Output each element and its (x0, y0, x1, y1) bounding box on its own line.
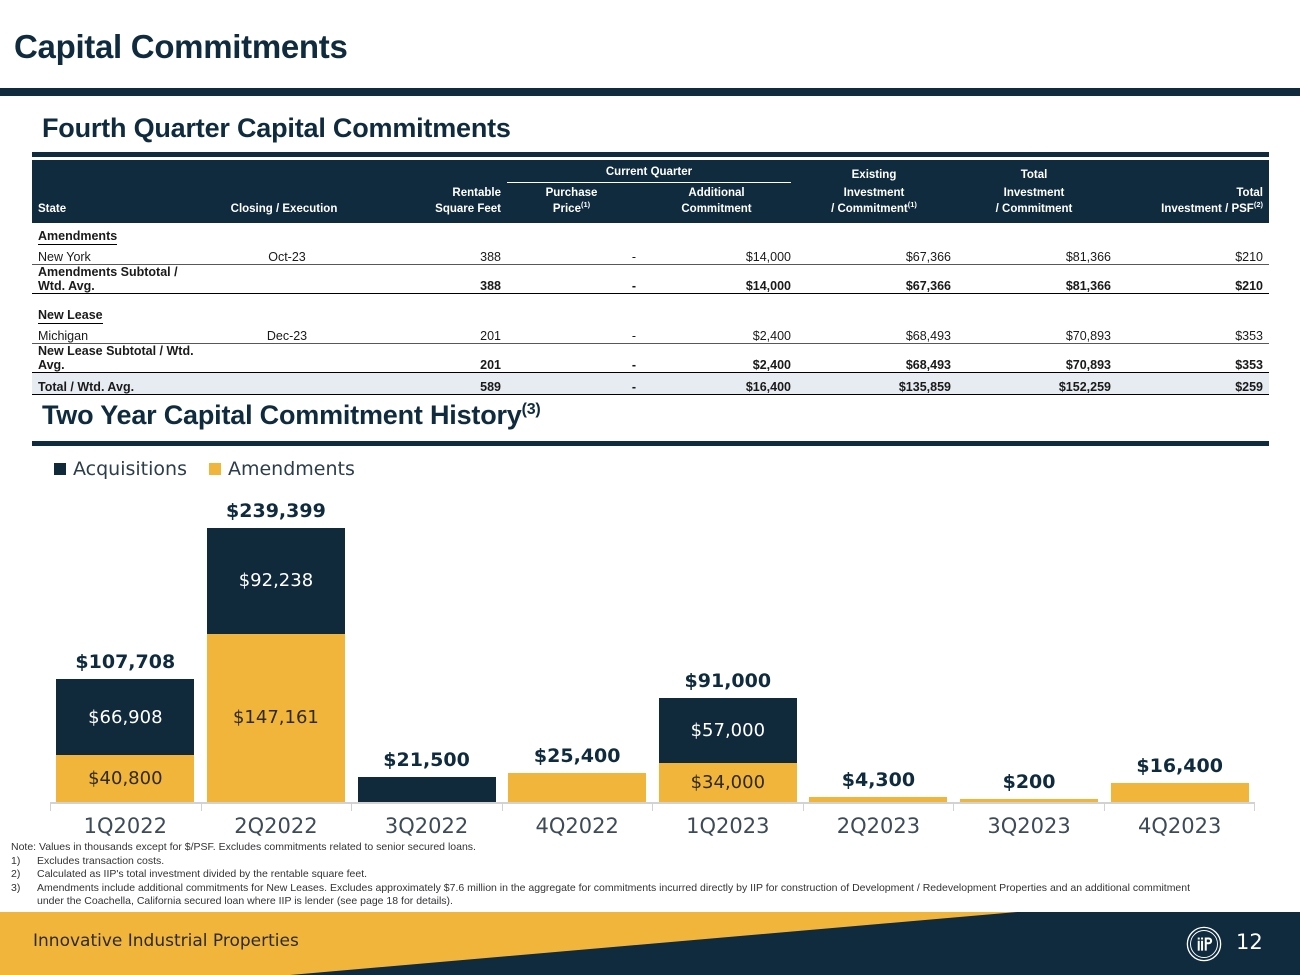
spacer-2 (202, 293, 372, 302)
spacer-8 (1117, 293, 1269, 302)
x-tick-4Q2022 (502, 802, 653, 811)
bar-slot-4Q2022: $25,400 (502, 490, 653, 802)
hdr-purchase-line1: Purchase (507, 184, 642, 202)
footnote-note: Note: Values in thousands except for $/P… (11, 841, 1296, 854)
hdr-closing-execution: Closing / Execution (202, 202, 372, 223)
hdr-rentable-line2: Square Feet (372, 202, 507, 223)
cell-grandtotal-label: Total / Wtd. Avg. (32, 372, 202, 394)
cell-state: New York (32, 243, 202, 264)
group2-pad-6 (957, 302, 1117, 322)
hdr-existing-line1: Investment (797, 184, 957, 202)
group-label-row: Amendments (32, 223, 1269, 243)
table-header-line2: Rentable Purchase Additional Investment … (32, 184, 1269, 202)
table-header-line3: State Closing / Execution Square Feet Pr… (32, 202, 1269, 223)
cell-subtotal-rentable-sf: 201 (372, 343, 507, 372)
spacer-1 (32, 293, 202, 302)
hdr-purchase-line2: Price(1) (507, 202, 642, 223)
capital-commitments-table: Current Quarter Existing Total Rentable … (32, 160, 1269, 395)
x-label-2Q2023: 2Q2023 (803, 814, 954, 838)
x-label-3Q2022: 3Q2022 (351, 814, 502, 838)
x-tick-3Q2022 (351, 802, 502, 811)
group2-pad-1 (202, 302, 372, 322)
spacer-4 (507, 293, 642, 302)
group-label-amendments: Amendments (32, 223, 202, 243)
group2-pad-7 (1117, 302, 1269, 322)
legend-label: Acquisitions (73, 458, 187, 480)
table-spacer-row (32, 293, 1269, 302)
group-label-amendments-text: Amendments (38, 229, 117, 245)
group-label-row: New Lease (32, 302, 1269, 322)
table-row: New York Oct-23 388 - $14,000 $67,366 $8… (32, 243, 1269, 264)
hdr-totalinv-line1: Investment (957, 184, 1117, 202)
cell-existing-investment: $68,493 (797, 322, 957, 343)
footnote-item-3: 3) Amendments include additional commitm… (11, 882, 1296, 895)
cell-purchase-price: - (507, 243, 642, 264)
x-label-1Q2023: 1Q2023 (653, 814, 804, 838)
hdr-blank-1 (32, 160, 202, 184)
bar-stack-3Q2022[interactable] (358, 777, 496, 802)
footnote-3-text: Amendments include additional commitment… (37, 882, 1296, 895)
group-pad-3 (507, 223, 642, 243)
bar-segment-acquisitions: $92,238 (207, 528, 345, 634)
cell-subtotal-closing (202, 343, 372, 372)
footnote-2-number: 2) (11, 868, 37, 881)
table-body: Amendments New York Oct-23 388 - $14,000… (32, 223, 1269, 394)
hdr-state: State (32, 202, 202, 223)
section-heading-two-year-text: Two Year Capital Commitment History (42, 400, 522, 430)
cell-rentable-sf: 201 (372, 322, 507, 343)
group-pad-5 (797, 223, 957, 243)
bar-segment-acquisitions (358, 777, 496, 802)
bar-total-label-1Q2022: $107,708 (75, 651, 175, 673)
x-tick-2Q2022 (201, 802, 352, 811)
hdr-group-current-quarter: Current Quarter (507, 160, 797, 184)
table-row: Michigan Dec-23 201 - $2,400 $68,493 $70… (32, 322, 1269, 343)
bar-segment-amendments (508, 773, 646, 802)
x-tick-4Q2023 (1104, 802, 1256, 811)
slide-footer: Innovative Industrial Properties (0, 912, 1300, 975)
bar-total-label-4Q2023: $16,400 (1136, 755, 1223, 777)
group-label-new-lease-text: New Lease (38, 308, 103, 324)
hdr-group-existing: Existing (797, 160, 957, 184)
cell-total-psf: $210 (1117, 243, 1269, 264)
hdr-additional-line1: Additional (642, 184, 797, 202)
legend-swatch-icon (54, 463, 66, 475)
page-number: 12 (1236, 930, 1263, 954)
x-label-3Q2023: 3Q2023 (954, 814, 1105, 838)
bar-slot-1Q2023: $57,000$34,000$91,000 (653, 490, 804, 802)
footnote-3-text-continued: under the Coachella, California secured … (11, 895, 1296, 908)
hdr-psf-line1: Total (1117, 184, 1269, 202)
spacer-5 (642, 293, 797, 302)
cell-subtotal-total-psf: $353 (1117, 343, 1269, 372)
bar-segment-amendments: $40,800 (56, 755, 194, 802)
section-divider-two-year (32, 441, 1269, 446)
section-heading-fourth-quarter: Fourth Quarter Capital Commitments (42, 113, 511, 144)
spacer-7 (957, 293, 1117, 302)
footnotes-block: Note: Values in thousands except for $/P… (11, 841, 1296, 908)
cell-subtotal-total-investment: $81,366 (957, 264, 1117, 293)
bar-stack-1Q2023[interactable]: $57,000$34,000 (659, 698, 797, 802)
cell-state: Michigan (32, 322, 202, 343)
spacer-6 (797, 293, 957, 302)
spacer-3 (372, 293, 507, 302)
hdr-blank-3 (372, 160, 507, 184)
bar-total-label-1Q2023: $91,000 (685, 670, 772, 692)
legend-item-acquisitions[interactable]: Acquisitions (54, 458, 187, 480)
bar-stack-1Q2022[interactable]: $66,908$40,800 (56, 679, 194, 802)
cell-subtotal-additional-commitment: $14,000 (642, 264, 797, 293)
group-pad-6 (957, 223, 1117, 243)
cell-subtotal-purchase-price: - (507, 343, 642, 372)
group-pad-4 (642, 223, 797, 243)
cell-subtotal-total-psf: $210 (1117, 264, 1269, 293)
bar-slot-1Q2022: $66,908$40,800$107,708 (50, 490, 201, 802)
bar-stack-4Q2023[interactable] (1111, 783, 1249, 802)
title-divider (0, 88, 1300, 96)
bar-segment-amendments (1111, 783, 1249, 802)
group2-pad-4 (642, 302, 797, 322)
cell-grandtotal-total-psf: $259 (1117, 372, 1269, 394)
group-pad-1 (202, 223, 372, 243)
cell-total-investment: $70,893 (957, 322, 1117, 343)
hdr-group-current-quarter-label: Current Quarter (606, 166, 692, 178)
cell-closing: Dec-23 (202, 322, 372, 343)
cell-subtotal-existing-investment: $68,493 (797, 343, 957, 372)
subtotal-row-new-lease: New Lease Subtotal / Wtd. Avg. 201 - $2,… (32, 343, 1269, 372)
hdr-blank-6 (202, 184, 372, 202)
cell-subtotal-total-investment: $70,893 (957, 343, 1117, 372)
group-pad-7 (1117, 223, 1269, 243)
hdr-blank-5 (32, 184, 202, 202)
subtotal-row-amendments: Amendments Subtotal / Wtd. Avg. 388 - $1… (32, 264, 1269, 293)
footnote-1-text: Excludes transaction costs. (37, 855, 1296, 868)
cell-purchase-price: - (507, 322, 642, 343)
cell-subtotal-label: Amendments Subtotal / Wtd. Avg. (32, 264, 202, 293)
grand-total-row: Total / Wtd. Avg. 589 - $16,400 $135,859… (32, 372, 1269, 394)
section-heading-footnote-marker: (3) (522, 401, 541, 418)
footnote-item-2: 2) Calculated as IIP's total investment … (11, 868, 1296, 881)
hdr-psf-footnote-marker: (2) (1254, 200, 1263, 209)
group2-pad-2 (372, 302, 507, 322)
cell-additional-commitment: $2,400 (642, 322, 797, 343)
cell-rentable-sf: 388 (372, 243, 507, 264)
group2-pad-3 (507, 302, 642, 322)
hdr-purchase-text: Price (553, 203, 581, 215)
hdr-psf-line2: Investment / PSF(2) (1117, 202, 1269, 223)
bar-total-label-3Q2022: $21,500 (383, 749, 470, 771)
cell-grandtotal-closing (202, 372, 372, 394)
chart-x-axis-labels: 1Q20222Q20223Q20224Q20221Q20232Q20233Q20… (50, 814, 1255, 838)
cell-grandtotal-existing-investment: $135,859 (797, 372, 957, 394)
cell-grandtotal-additional-commitment: $16,400 (642, 372, 797, 394)
legend-item-amendments[interactable]: Amendments (209, 458, 355, 480)
section-heading-two-year: Two Year Capital Commitment History(3) (42, 400, 541, 431)
cell-subtotal-rentable-sf: 388 (372, 264, 507, 293)
chart-x-axis-ticks (50, 802, 1255, 811)
bar-total-label-3Q2023: $200 (1003, 771, 1056, 793)
table-header-group-row: Current Quarter Existing Total (32, 160, 1269, 184)
x-label-1Q2022: 1Q2022 (50, 814, 201, 838)
slide-root: Capital Commitments Fourth Quarter Capit… (0, 0, 1300, 975)
x-tick-3Q2023 (953, 802, 1104, 811)
group-label-new-lease: New Lease (32, 302, 202, 322)
chart-bars-container: $66,908$40,800$107,708$92,238$147,161$23… (50, 490, 1255, 802)
hdr-blank-4 (1117, 160, 1269, 184)
legend-swatch-icon (209, 463, 221, 475)
group-pad-2 (372, 223, 507, 243)
cell-grandtotal-total-investment: $152,259 (957, 372, 1117, 394)
cell-subtotal-closing (202, 264, 372, 293)
bar-total-label-2Q2022: $239,399 (226, 500, 326, 522)
chart-plot-area: $66,908$40,800$107,708$92,238$147,161$23… (50, 490, 1255, 802)
x-label-4Q2023: 4Q2023 (1104, 814, 1255, 838)
x-label-4Q2022: 4Q2022 (502, 814, 653, 838)
hdr-existing-text: / Commitment (831, 203, 908, 215)
x-tick-1Q2022 (50, 802, 201, 811)
cell-subtotal-existing-investment: $67,366 (797, 264, 957, 293)
hdr-additional-line2: Commitment (642, 202, 797, 223)
section-divider-fourth-quarter (32, 152, 1269, 157)
hdr-rentable-line1: Rentable (372, 184, 507, 202)
bar-stack-2Q2022[interactable]: $92,238$147,161 (207, 528, 345, 802)
footnote-3-number: 3) (11, 882, 37, 895)
bar-slot-3Q2023: $200 (954, 490, 1105, 802)
iip-logo-icon (1185, 925, 1223, 963)
chart-legend: AcquisitionsAmendments (54, 458, 355, 480)
group2-pad-5 (797, 302, 957, 322)
bar-total-label-2Q2023: $4,300 (842, 769, 915, 791)
cell-grandtotal-rentable-sf: 589 (372, 372, 507, 394)
bar-slot-3Q2022: $21,500 (351, 490, 502, 802)
cell-additional-commitment: $14,000 (642, 243, 797, 264)
bar-slot-2Q2023: $4,300 (803, 490, 954, 802)
legend-label: Amendments (228, 458, 355, 480)
x-tick-1Q2023 (652, 802, 803, 811)
cell-existing-investment: $67,366 (797, 243, 957, 264)
hdr-existing-line2: / Commitment(1) (797, 202, 957, 223)
page-title: Capital Commitments (14, 28, 348, 66)
hdr-group-underline (507, 181, 791, 183)
bar-slot-4Q2023: $16,400 (1104, 490, 1255, 802)
cell-total-psf: $353 (1117, 322, 1269, 343)
bar-segment-acquisitions: $57,000 (659, 698, 797, 763)
footer-navy-wedge (290, 912, 1300, 975)
hdr-totalinv-line2: / Commitment (957, 202, 1117, 223)
bar-total-label-4Q2022: $25,400 (534, 745, 621, 767)
cell-grandtotal-purchase-price: - (507, 372, 642, 394)
footnote-2-text: Calculated as IIP's total investment div… (37, 868, 1296, 881)
x-tick-2Q2023 (803, 802, 954, 811)
cell-subtotal-additional-commitment: $2,400 (642, 343, 797, 372)
bar-segment-amendments: $147,161 (207, 634, 345, 802)
bar-segment-amendments: $34,000 (659, 763, 797, 802)
hdr-existing-footnote-marker: (1) (908, 200, 917, 209)
cell-closing: Oct-23 (202, 243, 372, 264)
bar-segment-acquisitions: $66,908 (56, 679, 194, 756)
footnote-item-1: 1) Excludes transaction costs. (11, 855, 1296, 868)
hdr-psf-text: Investment / PSF (1161, 203, 1254, 215)
bar-slot-2Q2022: $92,238$147,161$239,399 (201, 490, 352, 802)
capital-commitment-history-chart: AcquisitionsAmendments $66,908$40,800$10… (32, 452, 1272, 842)
bar-stack-4Q2022[interactable] (508, 773, 646, 802)
x-label-2Q2022: 2Q2022 (201, 814, 352, 838)
hdr-blank-2 (202, 160, 372, 184)
footer-brand-name: Innovative Industrial Properties (33, 931, 299, 951)
cell-subtotal-purchase-price: - (507, 264, 642, 293)
cell-total-investment: $81,366 (957, 243, 1117, 264)
footnote-1-number: 1) (11, 855, 37, 868)
cell-subtotal-label: New Lease Subtotal / Wtd. Avg. (32, 343, 202, 372)
hdr-purchase-footnote-marker: (1) (581, 200, 590, 209)
hdr-group-total: Total (957, 160, 1117, 184)
table-header: Current Quarter Existing Total Rentable … (32, 160, 1269, 223)
